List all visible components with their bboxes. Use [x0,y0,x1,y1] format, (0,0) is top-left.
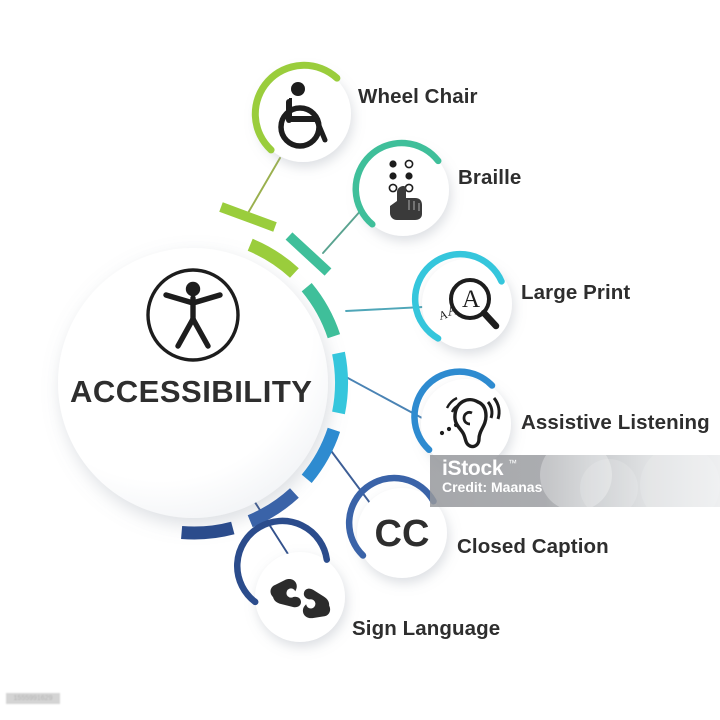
label-assistive-listening: Assistive Listening [521,411,710,435]
closed-caption-cc-icon: CC [375,513,430,555]
node-braille[interactable] [356,143,449,236]
ring-segment-large-print [339,353,342,413]
connector-assistive-listening [346,377,422,418]
label-closed-caption: Closed Caption [457,535,609,559]
asset-id-chip: 1555991629 [6,693,60,704]
label-large-print: Large Print [521,281,630,305]
connector-large-print [346,307,423,311]
svg-text:A: A [462,286,480,313]
page-title: ACCESSIBILITY [70,374,312,410]
connector-wheel-chair [248,158,280,213]
infographic-canvas: A A A [0,0,720,720]
watermark-blob [580,459,638,507]
node-large-print[interactable]: A A A [415,254,512,349]
node-wheel-chair[interactable] [255,65,351,162]
label-sign-language: Sign Language [352,617,500,641]
node-sign-language[interactable] [237,521,345,642]
watermark-blob [640,455,720,507]
istock-trademark: ™ [508,458,517,468]
istock-brand: iStock [442,457,503,481]
istock-watermark: iStock ™ Credit: Maanas [430,455,720,507]
connector-braille [323,208,363,253]
label-wheel-chair: Wheel Chair [358,85,478,109]
label-braille: Braille [458,166,521,190]
node-disk-sign-language [255,552,345,642]
ring-segment-sign-language [182,528,233,533]
istock-credit: Credit: Maanas [442,479,542,495]
elbow-accent-wheel-chair [221,207,275,227]
